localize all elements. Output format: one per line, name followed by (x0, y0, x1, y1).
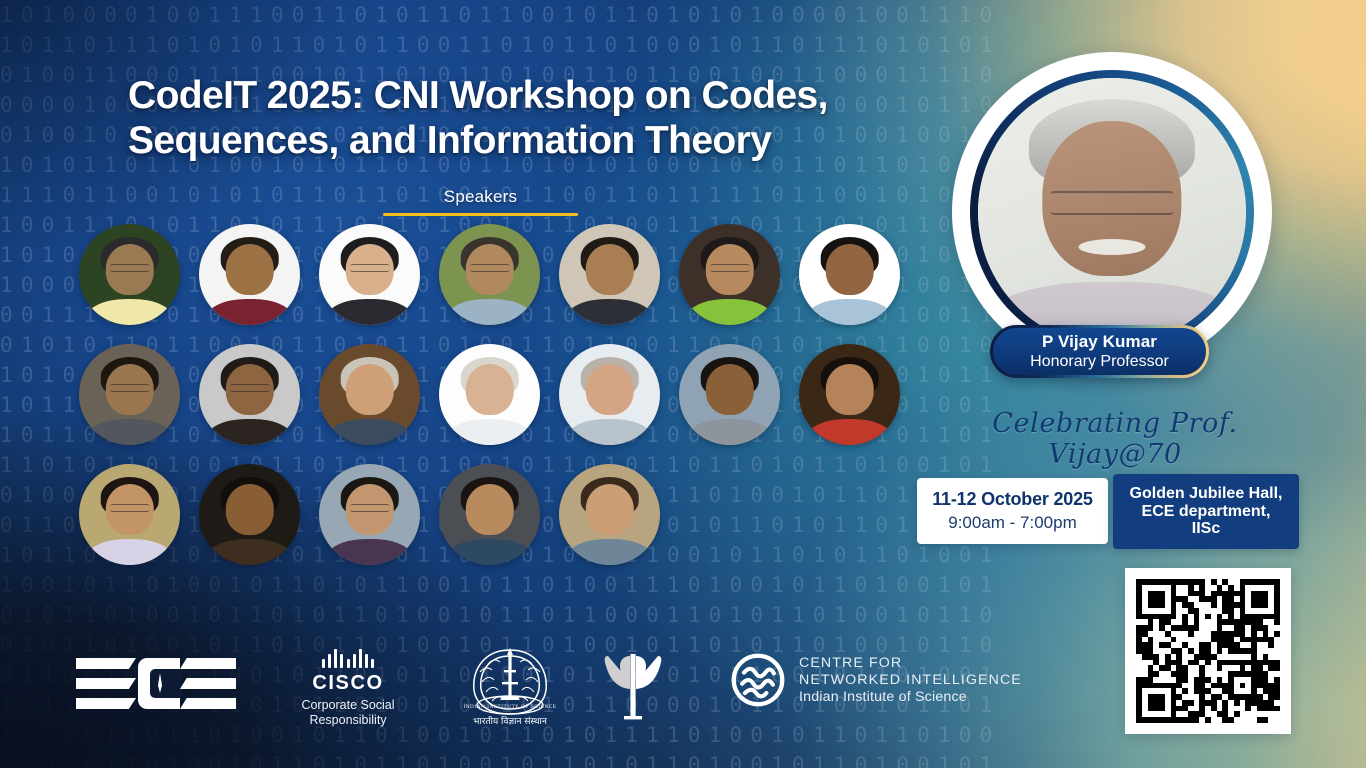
venue-line: IISc (1130, 520, 1283, 538)
speaker-9 (199, 344, 300, 445)
speaker-12 (559, 344, 660, 445)
speaker-15 (79, 464, 180, 565)
speaker-1 (79, 224, 180, 325)
speaker-14 (799, 344, 900, 445)
iisc-devanagari: भारतीय विज्ञान संस्थान (473, 715, 548, 727)
speaker-row-2 (79, 344, 900, 445)
event-dates: 11-12 October 2025 (932, 489, 1093, 510)
event-venue: Golden Jubilee Hall,ECE department,IISc (1130, 485, 1283, 539)
speaker-13 (679, 344, 780, 445)
speaker-2 (199, 224, 300, 325)
svg-text:INDIAN INSTITUTE OF SCIENCE: INDIAN INSTITUTE OF SCIENCE (463, 704, 556, 710)
event-date-box: 11-12 October 2025 9:00am - 7:00pm (917, 478, 1108, 544)
celebrating-tagline: Celebrating Prof. Vijay@70 (950, 408, 1280, 470)
speaker-3 (319, 224, 420, 325)
registration-qr-code[interactable] (1125, 568, 1291, 734)
honoree-name: P Vijay Kumar (1042, 333, 1157, 351)
cisco-sub-line2: Responsibility (290, 713, 406, 728)
cni-line-3: Indian Institute of Science (799, 689, 1022, 706)
speaker-row-3 (79, 464, 660, 565)
speaker-18 (439, 464, 540, 565)
psi-icon (598, 650, 668, 722)
honoree-portrait (952, 52, 1272, 372)
speaker-19 (559, 464, 660, 565)
cni-line-1: CENTRE FOR (799, 655, 1022, 672)
honoree-name-badge: P Vijay Kumar Honorary Professor (990, 325, 1209, 378)
speaker-17 (319, 464, 420, 565)
cisco-bars-icon (290, 648, 406, 668)
venue-line: Golden Jubilee Hall, (1130, 485, 1283, 503)
cisco-sub-line1: Corporate Social (290, 698, 406, 713)
honoree-role: Honorary Professor (1030, 353, 1169, 370)
speaker-16 (199, 464, 300, 565)
event-time: 9:00am - 7:00pm (948, 513, 1077, 533)
honoree-photo (978, 78, 1246, 346)
speaker-5 (559, 224, 660, 325)
speakers-label: Speakers (383, 187, 578, 207)
speaker-11 (439, 344, 540, 445)
cni-globe-icon (730, 652, 786, 708)
speaker-7 (799, 224, 900, 325)
speaker-4 (439, 224, 540, 325)
speaker-row-1 (79, 224, 900, 325)
speakers-heading: Speakers (383, 187, 578, 216)
event-poster: 1010000100111001101011011001011010101000… (0, 0, 1366, 768)
iisc-seal-logo: INDIAN INSTITUTE OF SCIENCE भारतीय विज्ञ… (460, 642, 560, 732)
speaker-8 (79, 344, 180, 445)
ece-logo (76, 656, 236, 712)
iisc-seal-icon: INDIAN INSTITUTE OF SCIENCE भारतीय विज्ञ… (460, 642, 560, 732)
speaker-6 (679, 224, 780, 325)
cni-logo: CENTRE FOR NETWORKED INTELLIGENCE Indian… (730, 652, 1022, 708)
cisco-wordmark: CISCO (290, 672, 406, 695)
cni-line-2: NETWORKED INTELLIGENCE (799, 672, 1022, 689)
event-venue-box: Golden Jubilee Hall,ECE department,IISc (1113, 474, 1299, 549)
page-title: CodeIT 2025: CNI Workshop on Codes, Sequ… (128, 73, 888, 163)
psi-logo (598, 650, 668, 722)
speakers-underline (383, 213, 578, 216)
speaker-10 (319, 344, 420, 445)
venue-line: ECE department, (1130, 503, 1283, 521)
cisco-logo: CISCO Corporate Social Responsibility (290, 648, 406, 728)
